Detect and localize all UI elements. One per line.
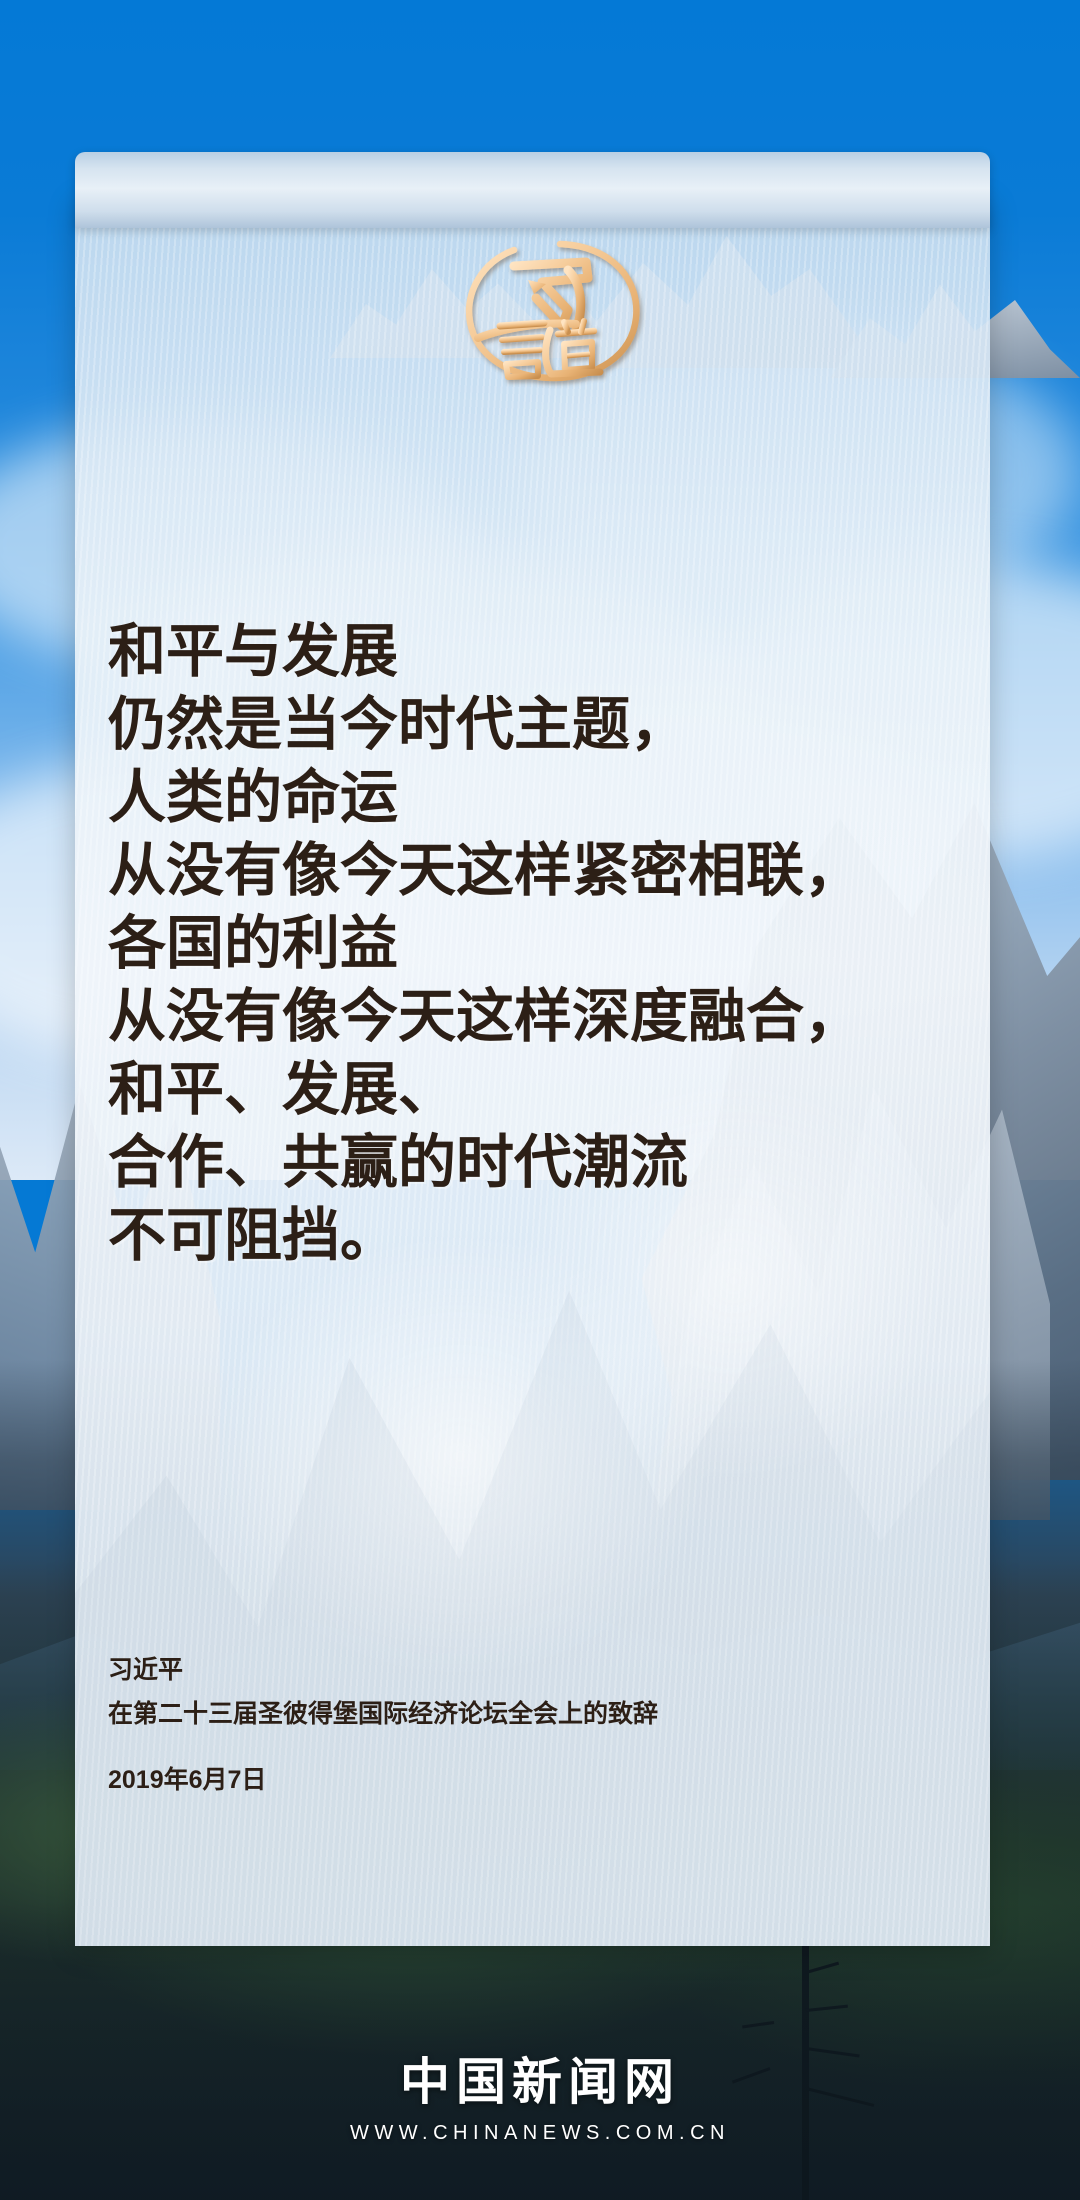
scroll-roller-top — [75, 152, 990, 228]
site-watermark: 中国新闻网 WWW.CHINANEWS.COM.CN — [0, 2042, 1080, 2145]
speech-occasion: 在第二十三届圣彼得堡国际经济论坛全会上的致辞 — [108, 1692, 908, 1736]
quote-line: 从没有像今天这样紧密相联， — [108, 834, 908, 907]
site-brand-name: 中国新闻网 — [0, 2042, 1080, 2114]
quote-line: 和平、发展、 — [108, 1053, 908, 1126]
quote-line: 不可阻挡。 — [108, 1199, 908, 1272]
quote-line: 和平与发展 — [108, 615, 908, 688]
speaker-name: 习近平 — [108, 1648, 908, 1692]
quote-block: 和平与发展 仍然是当今时代主题， 人类的命运 从没有像今天这样紧密相联， 各国的… — [108, 615, 908, 1272]
quote-line: 各国的利益 — [108, 907, 908, 980]
site-url: WWW.CHINANEWS.COM.CN — [0, 2122, 1080, 2145]
quote-line: 从没有像今天这样深度融合， — [108, 980, 908, 1053]
quote-line: 合作、共赢的时代潮流 — [108, 1126, 908, 1199]
quote-line: 仍然是当今时代主题， — [108, 688, 908, 761]
seal-emblem — [418, 222, 668, 392]
attribution-block: 习近平 在第二十三届圣彼得堡国际经济论坛全会上的致辞 2019年6月7日 — [108, 1648, 908, 1802]
quote-line: 人类的命运 — [108, 761, 908, 834]
speech-date: 2019年6月7日 — [108, 1758, 908, 1802]
seal-circle-group — [469, 244, 636, 378]
